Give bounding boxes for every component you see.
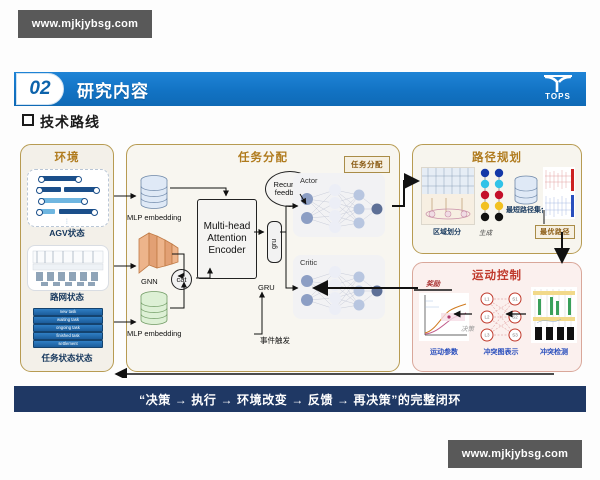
watermark-top: www.mjkjybsg.com — [18, 10, 152, 38]
svg-text:L2: L2 — [484, 315, 490, 320]
tops-mark-icon — [543, 74, 573, 93]
tops-logo-text: TOPS — [545, 92, 571, 101]
decision-label: 决策 — [461, 323, 474, 333]
motion-params-chart-thumbnail — [419, 293, 469, 341]
slide: www.mjkjybsg.com www.mjkjybsg.com 02 研究内… — [0, 0, 600, 480]
agv-state-caption: AGV状态 — [21, 227, 113, 239]
gnn-label: GNN — [141, 277, 158, 286]
motion-params-caption: 运动参数 — [415, 347, 473, 357]
road-network-illustration — [27, 245, 109, 291]
section-heading: 技术路线 — [22, 112, 100, 132]
conflict-detection-caption: 冲突检测 — [529, 347, 579, 357]
optimal-path-badge: 最优路径 — [535, 225, 575, 239]
panel-motion-control: 运动控制 奖励 运动参数 决策 — [412, 262, 582, 372]
conflict-graph-icon: L1L2L3 S1S2S3 — [475, 289, 527, 345]
zone-division-caption: 区域划分 — [421, 227, 473, 237]
critic-network: Critic — [293, 255, 385, 319]
section-number-badge: 02 — [16, 73, 64, 105]
gru-label: GRU — [258, 283, 275, 292]
list-item: finished task — [33, 332, 103, 340]
tops-logo: TOPS — [536, 74, 580, 105]
reward-label: 奖励 — [415, 279, 451, 289]
path-candidates-dots-icon — [477, 167, 507, 225]
watermark-bottom: www.mjkjybsg.com — [448, 440, 582, 468]
optimal-path-heatmap-thumbnail — [543, 167, 575, 219]
attention-encoder-box: Multi-head Attention Encoder — [197, 199, 257, 279]
agv-state-illustration: ⋮ — [27, 169, 109, 227]
svg-text:L1: L1 — [484, 297, 490, 302]
svg-text:L3: L3 — [484, 333, 490, 338]
concat-node: cat — [171, 269, 192, 290]
gru-box: gru — [267, 221, 282, 263]
slide-title-bar: 02 研究内容 TOPS — [14, 72, 586, 106]
road-network-caption: 路网状态 — [21, 291, 113, 303]
mlp-embedding-bottom-icon — [139, 291, 169, 325]
zone-division-thumbnail — [421, 167, 475, 225]
list-item: settlement — [33, 340, 103, 348]
critic-label: Critic — [300, 258, 317, 267]
svg-text:S1: S1 — [512, 297, 518, 302]
actor-network: Actor — [293, 173, 385, 237]
technical-roadmap-diagram: 环境 — [14, 136, 586, 378]
list-item: ongoing task — [33, 324, 103, 332]
svg-text:S2: S2 — [512, 315, 518, 320]
mlp-embedding-bottom-label: MLP embedding — [127, 329, 181, 338]
panel-path-planning-title: 路径规划 — [413, 149, 581, 165]
bullet-square-icon — [22, 114, 34, 126]
shortest-path-set-icon — [513, 175, 539, 205]
panel-environment: 环境 — [20, 144, 114, 372]
gru-inner-label: gru — [271, 236, 278, 249]
conflict-graph-caption: 冲突图表示 — [473, 347, 529, 357]
road-network-icon — [31, 249, 105, 287]
list-item: new task — [33, 308, 103, 316]
mlp-embedding-top-icon — [139, 175, 169, 209]
page-title: 研究内容 — [77, 77, 149, 102]
task-state-caption: 任务状态状态 — [21, 352, 113, 364]
generate-label: 生成 — [479, 227, 492, 237]
summary-banner: “决策 → 执行 → 环境改变 → 反馈 → 再决策”的完整闭环 — [14, 386, 586, 412]
svg-text:S3: S3 — [512, 333, 518, 338]
task-state-list: new task waiting task ongoing task finis… — [27, 308, 107, 348]
actor-label: Actor — [300, 176, 318, 185]
section-heading-text: 技术路线 — [40, 114, 100, 130]
panel-environment-title: 环境 — [21, 149, 113, 165]
panel-path-planning: 路径规划 — [412, 144, 582, 254]
allocation-output-badge: 任务分配 — [344, 156, 390, 173]
panel-task-allocation: 任务分配 MLP embedding — [126, 144, 400, 372]
event-trigger-label: 事件触发 — [260, 335, 290, 346]
mlp-embedding-top-label: MLP embedding — [127, 213, 181, 222]
list-item: waiting task — [33, 316, 103, 324]
conflict-detection-thumbnail — [531, 287, 577, 343]
